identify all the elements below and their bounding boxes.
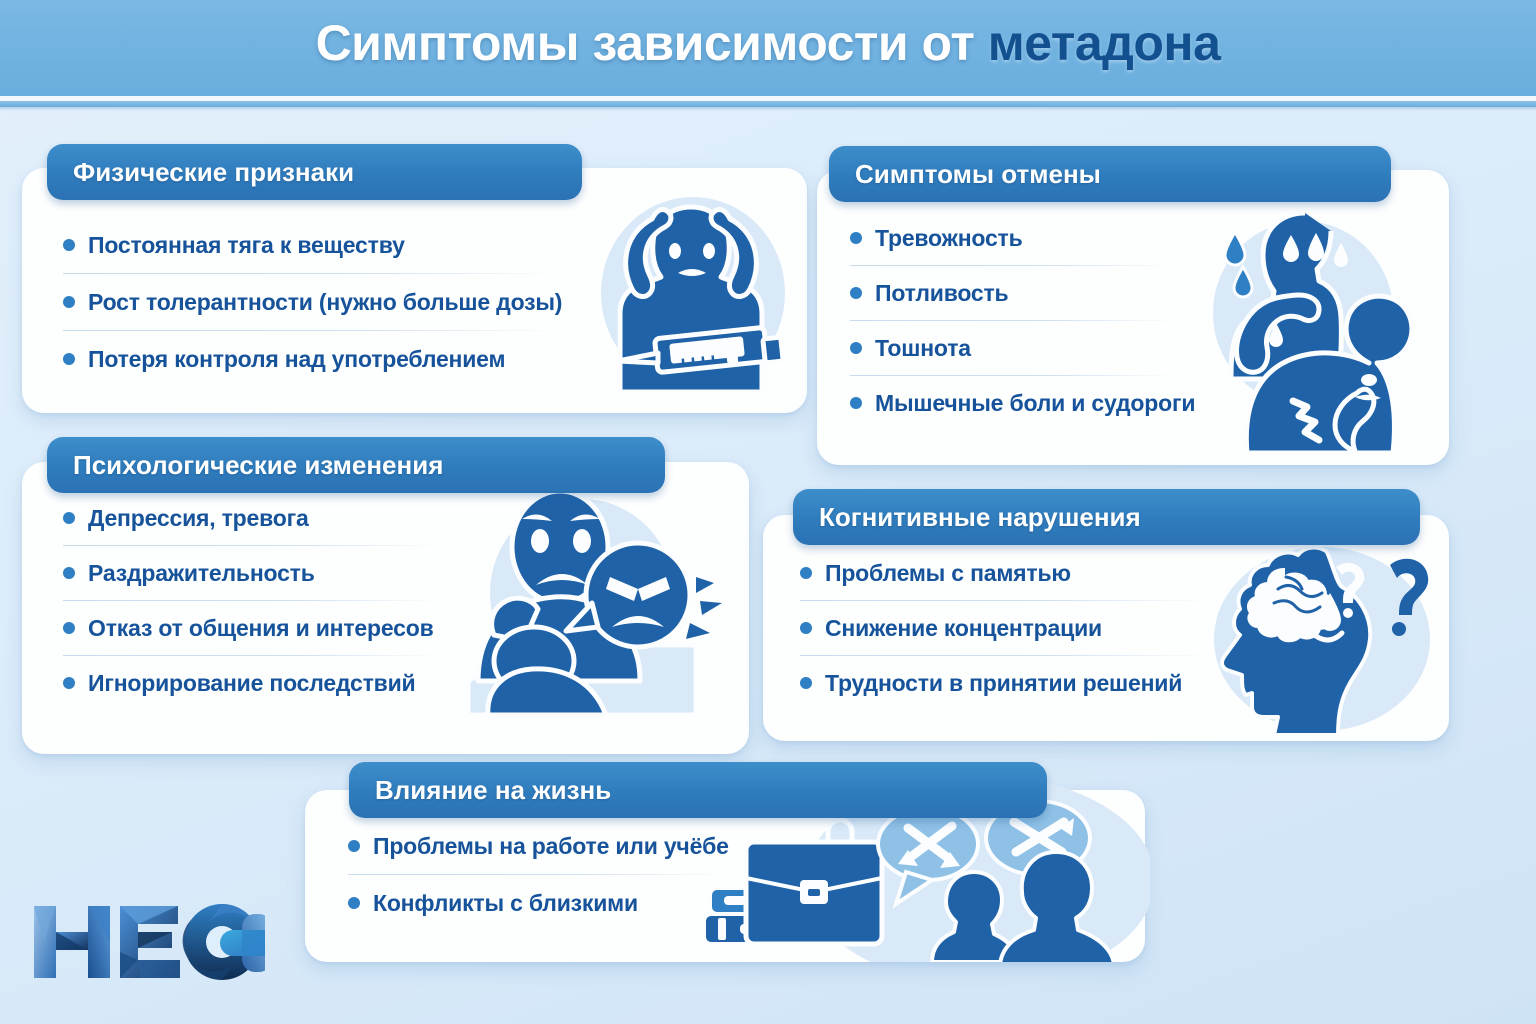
page-title-accent: метадона bbox=[988, 15, 1221, 71]
bullet-icon bbox=[63, 677, 75, 689]
list-item-label: Раздражительность bbox=[88, 560, 315, 587]
card-header-life-impact: Влияние на жизнь bbox=[349, 762, 1047, 818]
bullet-icon bbox=[63, 296, 75, 308]
card-header-cognitive-impairments: Когнитивные нарушения bbox=[793, 489, 1420, 545]
page-title: Симптомы зависимости от метадона bbox=[0, 14, 1536, 72]
bullet-icon bbox=[348, 840, 360, 852]
list-item: Раздражительность bbox=[63, 557, 463, 589]
list-physical-signs: Постоянная тяга к веществу Рост толерант… bbox=[63, 228, 563, 376]
list-item: Тошнота bbox=[850, 332, 1200, 364]
list-divider bbox=[63, 273, 560, 274]
list-item-label: Потливость bbox=[875, 280, 1009, 307]
bullet-icon bbox=[850, 287, 862, 299]
list-item-label: Рост толерантности (нужно больше дозы) bbox=[88, 289, 562, 316]
list-divider bbox=[850, 375, 1175, 376]
card-title-physical-signs: Физические признаки bbox=[73, 157, 354, 188]
card-title-psychological-changes: Психологические изменения bbox=[73, 450, 443, 481]
list-item-label: Тошнота bbox=[875, 335, 971, 362]
list-item-label: Игнорирование последствий bbox=[88, 670, 415, 697]
bullet-icon bbox=[850, 232, 862, 244]
list-item-label: Проблемы на работе или учёбе bbox=[373, 833, 729, 860]
list-item-label: Мышечные боли и судороги bbox=[875, 390, 1195, 417]
stressed-person-syringe-icon bbox=[578, 193, 803, 398]
list-item: Трудности в принятии решений bbox=[800, 667, 1220, 699]
list-withdrawal-symptoms: Тревожность Потливость Тошнота Мышечные … bbox=[850, 222, 1200, 419]
brand-logo bbox=[30, 892, 265, 988]
list-divider bbox=[63, 600, 441, 601]
list-divider bbox=[800, 655, 1208, 656]
list-divider bbox=[348, 874, 728, 875]
card-header-physical-signs: Физические признаки bbox=[47, 144, 582, 200]
bullet-icon bbox=[63, 512, 75, 524]
bullet-icon bbox=[63, 353, 75, 365]
sweating-nauseous-person-icon bbox=[1185, 205, 1445, 455]
page-title-main: Симптомы зависимости от bbox=[316, 15, 988, 71]
list-item: Потеря контроля над употреблением bbox=[63, 342, 563, 376]
list-item: Рост толерантности (нужно больше дозы) bbox=[63, 285, 563, 319]
card-title-cognitive-impairments: Когнитивные нарушения bbox=[819, 502, 1141, 533]
card-title-life-impact: Влияние на жизнь bbox=[375, 775, 611, 806]
list-item: Отказ от общения и интересов bbox=[63, 612, 463, 644]
list-divider bbox=[63, 545, 441, 546]
list-divider bbox=[850, 320, 1175, 321]
list-item-label: Снижение концентрации bbox=[825, 615, 1102, 642]
list-item-label: Отказ от общения и интересов bbox=[88, 615, 434, 642]
list-item-label: Конфликты с близкими bbox=[373, 890, 638, 917]
bullet-icon bbox=[850, 342, 862, 354]
list-item-label: Постоянная тяга к веществу bbox=[88, 232, 405, 259]
head-brain-question-icon bbox=[1208, 543, 1444, 735]
card-title-withdrawal-symptoms: Симптомы отмены bbox=[855, 159, 1101, 190]
bullet-icon bbox=[800, 622, 812, 634]
list-item: Депрессия, тревога bbox=[63, 502, 463, 534]
bullet-icon bbox=[63, 622, 75, 634]
list-divider bbox=[800, 600, 1208, 601]
card-header-withdrawal-symptoms: Симптомы отмены bbox=[829, 146, 1391, 202]
bullet-icon bbox=[63, 567, 75, 579]
list-item-label: Депрессия, тревога bbox=[88, 505, 309, 532]
list-item: Тревожность bbox=[850, 222, 1200, 254]
list-item: Игнорирование последствий bbox=[63, 667, 463, 699]
sad-angry-faces-icon bbox=[432, 485, 732, 715]
list-item: Конфликты с близкими bbox=[348, 887, 768, 919]
list-psychological-changes: Депрессия, тревога Раздражительность Отк… bbox=[63, 502, 463, 699]
bullet-icon bbox=[800, 567, 812, 579]
list-divider bbox=[63, 655, 441, 656]
list-cognitive-impairments: Проблемы с памятью Снижение концентрации… bbox=[800, 557, 1220, 699]
bullet-icon bbox=[850, 397, 862, 409]
list-item-label: Потеря контроля над употреблением bbox=[88, 346, 505, 373]
list-item-label: Трудности в принятии решений bbox=[825, 670, 1182, 697]
list-item: Проблемы на работе или учёбе bbox=[348, 830, 768, 862]
list-item: Потливость bbox=[850, 277, 1200, 309]
header-divider-shadow bbox=[0, 107, 1536, 111]
list-item: Мышечные боли и судороги bbox=[850, 387, 1200, 419]
list-item: Проблемы с памятью bbox=[800, 557, 1220, 589]
list-divider bbox=[850, 265, 1175, 266]
list-item-label: Проблемы с памятью bbox=[825, 560, 1071, 587]
list-life-impact: Проблемы на работе или учёбе Конфликты с… bbox=[348, 830, 768, 919]
bullet-icon bbox=[63, 239, 75, 251]
infographic-poster: Симптомы зависимости от метадона Физичес… bbox=[0, 0, 1536, 1024]
list-item-label: Тревожность bbox=[875, 225, 1023, 252]
list-item: Постоянная тяга к веществу bbox=[63, 228, 563, 262]
bullet-icon bbox=[348, 897, 360, 909]
bullet-icon bbox=[800, 677, 812, 689]
card-header-psychological-changes: Психологические изменения bbox=[47, 437, 665, 493]
list-divider bbox=[63, 330, 560, 331]
list-item: Снижение концентрации bbox=[800, 612, 1220, 644]
